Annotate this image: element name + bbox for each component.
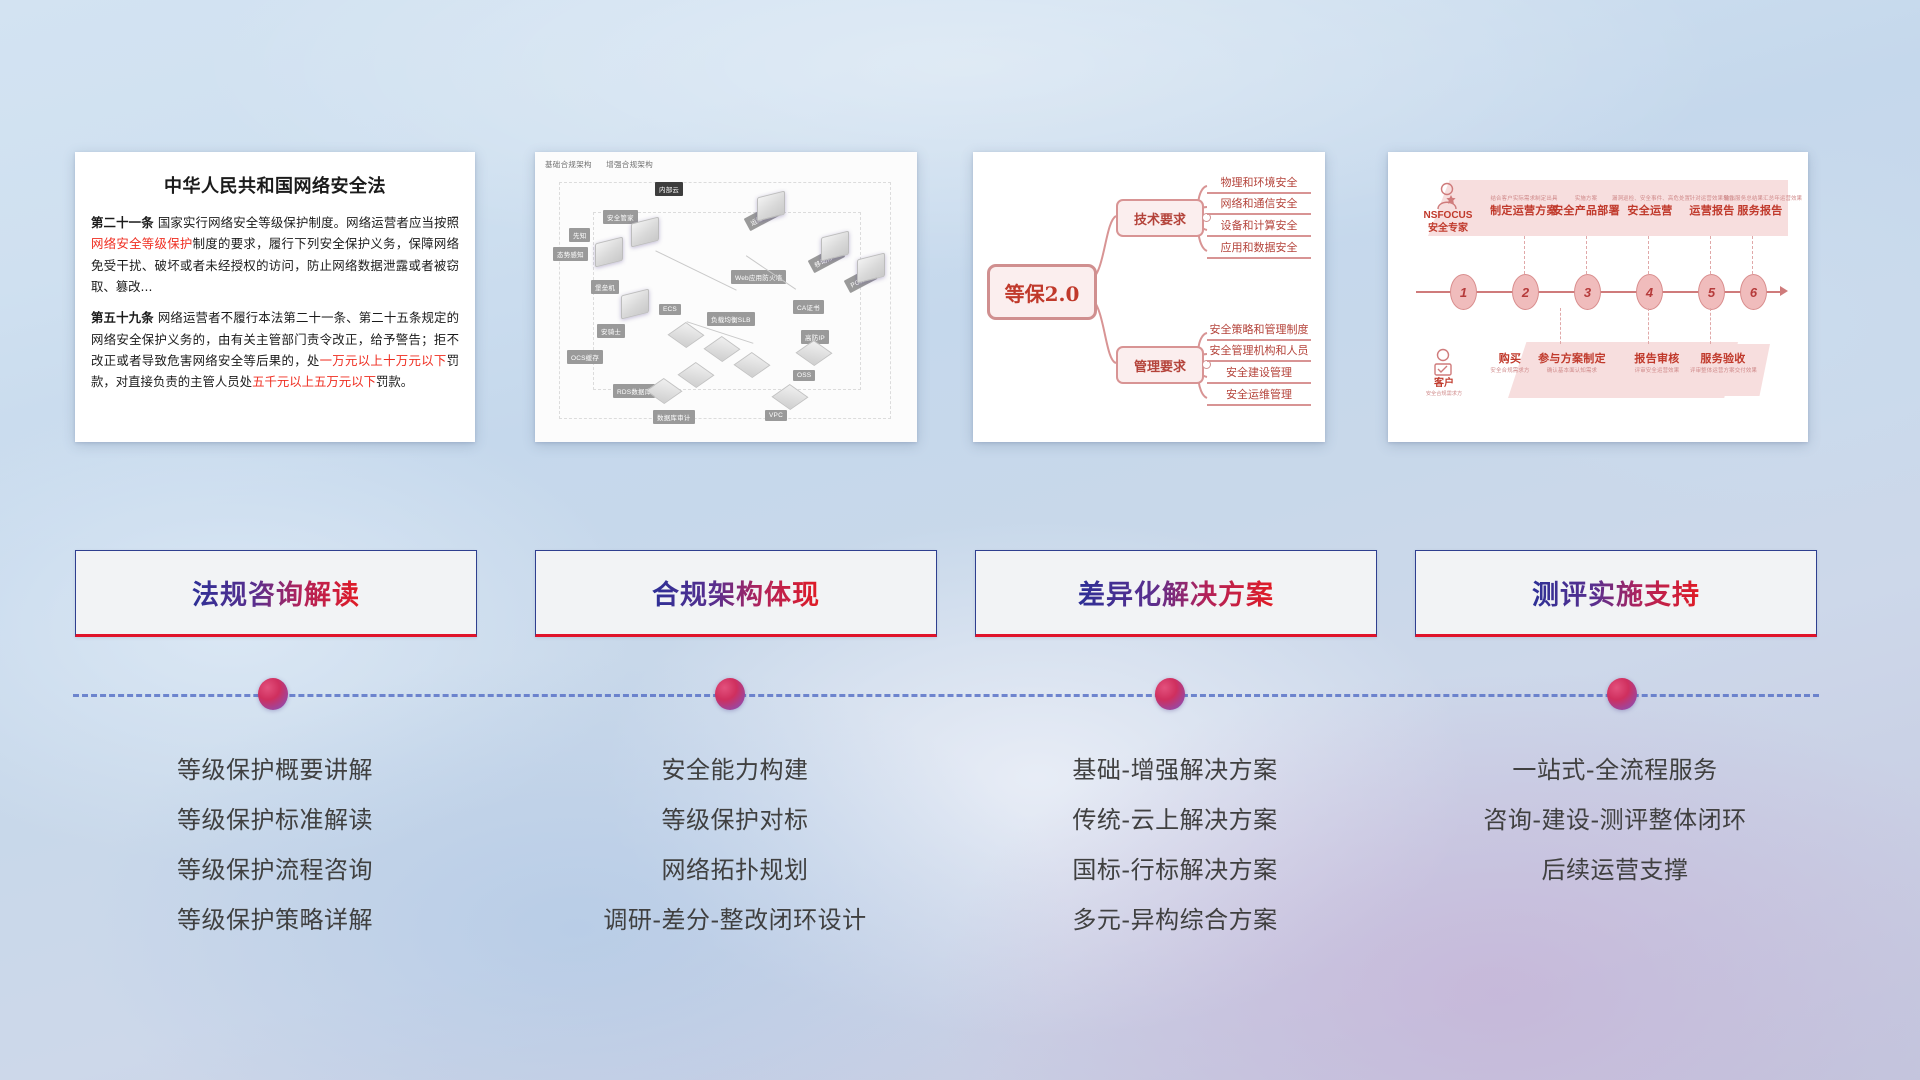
rail-node-2[interactable] bbox=[715, 678, 745, 710]
law-text-body: 中华人民共和国网络安全法 第二十一条 国家实行网络安全等级保护制度。网络运营者应… bbox=[75, 152, 475, 413]
law-title: 中华人民共和国网络安全法 bbox=[91, 172, 459, 198]
timeline-connector bbox=[1560, 308, 1561, 344]
bullet-item: 等级保护标准解读 bbox=[75, 795, 475, 845]
pillar-assessment-support[interactable]: 测评实施支持 bbox=[1415, 550, 1817, 637]
customer-title: 客户 bbox=[1434, 378, 1454, 389]
timeline-step-marker[interactable]: 2 bbox=[1512, 274, 1539, 310]
step-sub: 确认基本面认知需求 bbox=[1534, 366, 1610, 374]
node-tag-ca-certificate: CA证书 bbox=[793, 300, 824, 314]
timeline-connector bbox=[1710, 308, 1711, 344]
step-title: 参与方案制定 bbox=[1534, 350, 1610, 366]
timeline-customer-label: 客户 安全合规需求方 bbox=[1416, 378, 1472, 397]
mindmap-branch-technical: 技术要求 bbox=[1116, 199, 1204, 237]
mindmap-leaf: 安全策略和管理制度 bbox=[1207, 321, 1311, 341]
timeline-connector bbox=[1648, 236, 1649, 274]
node-tag-internal-cloud: 内部云 bbox=[655, 182, 683, 196]
timeline-connector bbox=[1648, 308, 1649, 344]
timeline-rail bbox=[73, 694, 1819, 697]
pillar-differentiated-solution[interactable]: 差异化解决方案 bbox=[975, 550, 1377, 637]
node-tag-xianzhi: 先知 bbox=[569, 228, 590, 242]
bullet-item: 传统-云上解决方案 bbox=[975, 795, 1375, 845]
bullet-item: 等级保护流程咨询 bbox=[75, 845, 475, 895]
thumbnail-mindmap[interactable]: 等保2.0 技术要求 物理和环境安全 网络和通信安全 设备和计算安全 应用和数据… bbox=[973, 152, 1325, 442]
article-59-highlight-2: 五千元以上五万元以下 bbox=[252, 374, 376, 389]
law-article-21: 第二十一条 国家实行网络安全等级保护制度。网络运营者应当按照网络安全等级保护制度… bbox=[91, 212, 459, 297]
law-article-59: 第五十九条 网络运营者不履行本法第二十一条、第二十五条规定的网络安全保护义务的，… bbox=[91, 307, 459, 392]
bullet-item: 咨询-建设-测评整体闭环 bbox=[1415, 795, 1815, 845]
step-title: 服务报告 bbox=[1724, 202, 1796, 218]
bullet-item: 后续运营支撑 bbox=[1415, 845, 1815, 895]
mindmap-leaf: 网络和通信安全 bbox=[1207, 195, 1311, 215]
bullet-item: 国标-行标解决方案 bbox=[975, 845, 1375, 895]
mindmap-leaf: 物理和环境安全 bbox=[1207, 174, 1311, 194]
bullet-item: 网络拓扑规划 bbox=[535, 845, 935, 895]
timeline-expert-label: NSFOCUS安全专家 bbox=[1418, 210, 1478, 235]
node-tag-anqishi: 安骑士 bbox=[597, 324, 625, 338]
node-tag-bastion-host: 堡垒机 bbox=[591, 280, 619, 294]
step-title: 购买 bbox=[1480, 350, 1540, 366]
step-sub: 评审安全运营效果 bbox=[1626, 366, 1688, 374]
article-59-highlight-1: 一万元以上十万元以下 bbox=[320, 353, 447, 368]
timeline-step-marker[interactable]: 6 bbox=[1740, 274, 1767, 310]
bullet-item: 基础-增强解决方案 bbox=[975, 745, 1375, 795]
timeline-bottom-step: 报告审核 评审安全运营效果 bbox=[1626, 350, 1688, 374]
architecture-captions: 基础合规架构 增强合规架构 bbox=[545, 159, 665, 170]
timeline-connector bbox=[1710, 236, 1711, 274]
timeline-step-marker[interactable]: 1 bbox=[1450, 274, 1477, 310]
timeline-connector bbox=[1586, 236, 1587, 274]
bullet-column-2: 安全能力构建 等级保护对标 网络拓扑规划 调研-差分-整改闭环设计 bbox=[535, 745, 935, 945]
pillar-regulation-consulting[interactable]: 法规咨询解读 bbox=[75, 550, 477, 637]
bullet-column-3: 基础-增强解决方案 传统-云上解决方案 国标-行标解决方案 多元-异构综合方案 bbox=[975, 745, 1375, 945]
node-tag-vpc: VPC bbox=[765, 410, 787, 421]
step-sub: 评审整体运营方案交付效果 bbox=[1690, 366, 1756, 374]
bullet-column-4: 一站式-全流程服务 咨询-建设-测评整体闭环 后续运营支撑 bbox=[1415, 745, 1815, 895]
step-title: 报告审核 bbox=[1626, 350, 1688, 366]
expert-person-icon bbox=[1434, 182, 1460, 212]
timeline-connector bbox=[1524, 236, 1525, 274]
mindmap-leaf: 安全建设管理 bbox=[1207, 364, 1311, 384]
article-21-label: 第二十一条 bbox=[91, 215, 154, 230]
mindmap-leaf: 安全运维管理 bbox=[1207, 386, 1311, 406]
bullet-item: 一站式-全流程服务 bbox=[1415, 745, 1815, 795]
caption-basic: 基础合规架构 bbox=[545, 160, 592, 169]
node-tag-situation-awareness: 态势感知 bbox=[553, 247, 588, 261]
node-tag-slb: 负载均衡SLB bbox=[707, 312, 755, 326]
bullet-item: 等级保护策略详解 bbox=[75, 895, 475, 945]
rail-node-3[interactable] bbox=[1155, 678, 1185, 710]
thumbnail-service-timeline[interactable]: NSFOCUS安全专家 客户 安全合规需求方 1 2 3 4 5 6 bbox=[1388, 152, 1808, 442]
timeline-bottom-step: 参与方案制定 确认基本面认知需求 bbox=[1534, 350, 1610, 374]
pillar-label: 测评实施支持 bbox=[1532, 573, 1700, 612]
node-tag-oss: OSS bbox=[793, 370, 815, 381]
pillar-label: 法规咨询解读 bbox=[192, 573, 360, 612]
step-title: 服务验收 bbox=[1690, 350, 1756, 366]
step-sub: 输出服务总结果汇总年运营效果 bbox=[1724, 194, 1796, 202]
timeline-step-marker[interactable]: 4 bbox=[1636, 274, 1663, 310]
bullet-item: 等级保护对标 bbox=[535, 795, 935, 845]
node-tag-ocs-cache: OCS缓存 bbox=[567, 350, 603, 364]
node-tag-ecs: ECS bbox=[659, 304, 681, 315]
mindmap-leaf: 安全管理机构和人员 bbox=[1207, 342, 1311, 362]
architecture-canvas: 基础合规架构 增强合规架构 内部云 安全管家 先知 态势感知 堡垒机 安骑士 O… bbox=[535, 152, 917, 442]
caption-enhanced: 增强合规架构 bbox=[606, 160, 653, 169]
mindmap-leaf: 设备和计算安全 bbox=[1207, 217, 1311, 237]
customer-sub: 安全合规需求方 bbox=[1416, 391, 1472, 398]
timeline-bottom-step: 购买 安全合规需求方 bbox=[1480, 350, 1540, 374]
bullet-item: 安全能力构建 bbox=[535, 745, 935, 795]
timeline-top-step: 输出服务总结果汇总年运营效果 服务报告 bbox=[1724, 194, 1796, 218]
thumbnail-architecture-diagram[interactable]: 基础合规架构 增强合规架构 内部云 安全管家 先知 态势感知 堡垒机 安骑士 O… bbox=[535, 152, 917, 442]
article-59-text-3: 罚款。 bbox=[376, 374, 413, 389]
timeline-step-marker[interactable]: 5 bbox=[1698, 274, 1725, 310]
mindmap-canvas: 等保2.0 技术要求 物理和环境安全 网络和通信安全 设备和计算安全 应用和数据… bbox=[973, 152, 1325, 442]
bullet-item: 等级保护概要讲解 bbox=[75, 745, 475, 795]
customer-person-icon bbox=[1430, 348, 1456, 378]
mindmap-root-node: 等保2.0 bbox=[987, 264, 1097, 320]
timeline-connector bbox=[1752, 236, 1753, 274]
timeline-bottom-step: 服务验收 评审整体运营方案交付效果 bbox=[1690, 350, 1756, 374]
article-21-highlight: 网络安全等级保护 bbox=[91, 236, 193, 251]
bullet-item: 多元-异构综合方案 bbox=[975, 895, 1375, 945]
pillar-compliance-architecture[interactable]: 合规架构体现 bbox=[535, 550, 937, 637]
article-21-text-1: 国家实行网络安全等级保护制度。网络运营者应当按照 bbox=[154, 215, 459, 230]
article-59-label: 第五十九条 bbox=[91, 310, 154, 325]
mindmap-leaf: 应用和数据安全 bbox=[1207, 239, 1311, 259]
rail-node-4[interactable] bbox=[1607, 678, 1637, 710]
rail-node-1[interactable] bbox=[258, 678, 288, 710]
pillar-label: 差异化解决方案 bbox=[1078, 573, 1274, 612]
thumbnail-law-document[interactable]: 中华人民共和国网络安全法 第二十一条 国家实行网络安全等级保护制度。网络运营者应… bbox=[75, 152, 475, 442]
timeline-arrow-icon bbox=[1780, 286, 1788, 296]
timeline-step-marker[interactable]: 3 bbox=[1574, 274, 1601, 310]
bullet-column-1: 等级保护概要讲解 等级保护标准解读 等级保护流程咨询 等级保护策略详解 bbox=[75, 745, 475, 945]
step-sub: 安全合规需求方 bbox=[1480, 366, 1540, 374]
bullet-item: 调研-差分-整改闭环设计 bbox=[535, 895, 935, 945]
mindmap-branch-management: 管理要求 bbox=[1116, 346, 1204, 384]
timeline-canvas: NSFOCUS安全专家 客户 安全合规需求方 1 2 3 4 5 6 bbox=[1388, 152, 1808, 442]
pillar-label: 合规架构体现 bbox=[652, 573, 820, 612]
node-tag-database-audit: 数据库审计 bbox=[653, 410, 695, 424]
